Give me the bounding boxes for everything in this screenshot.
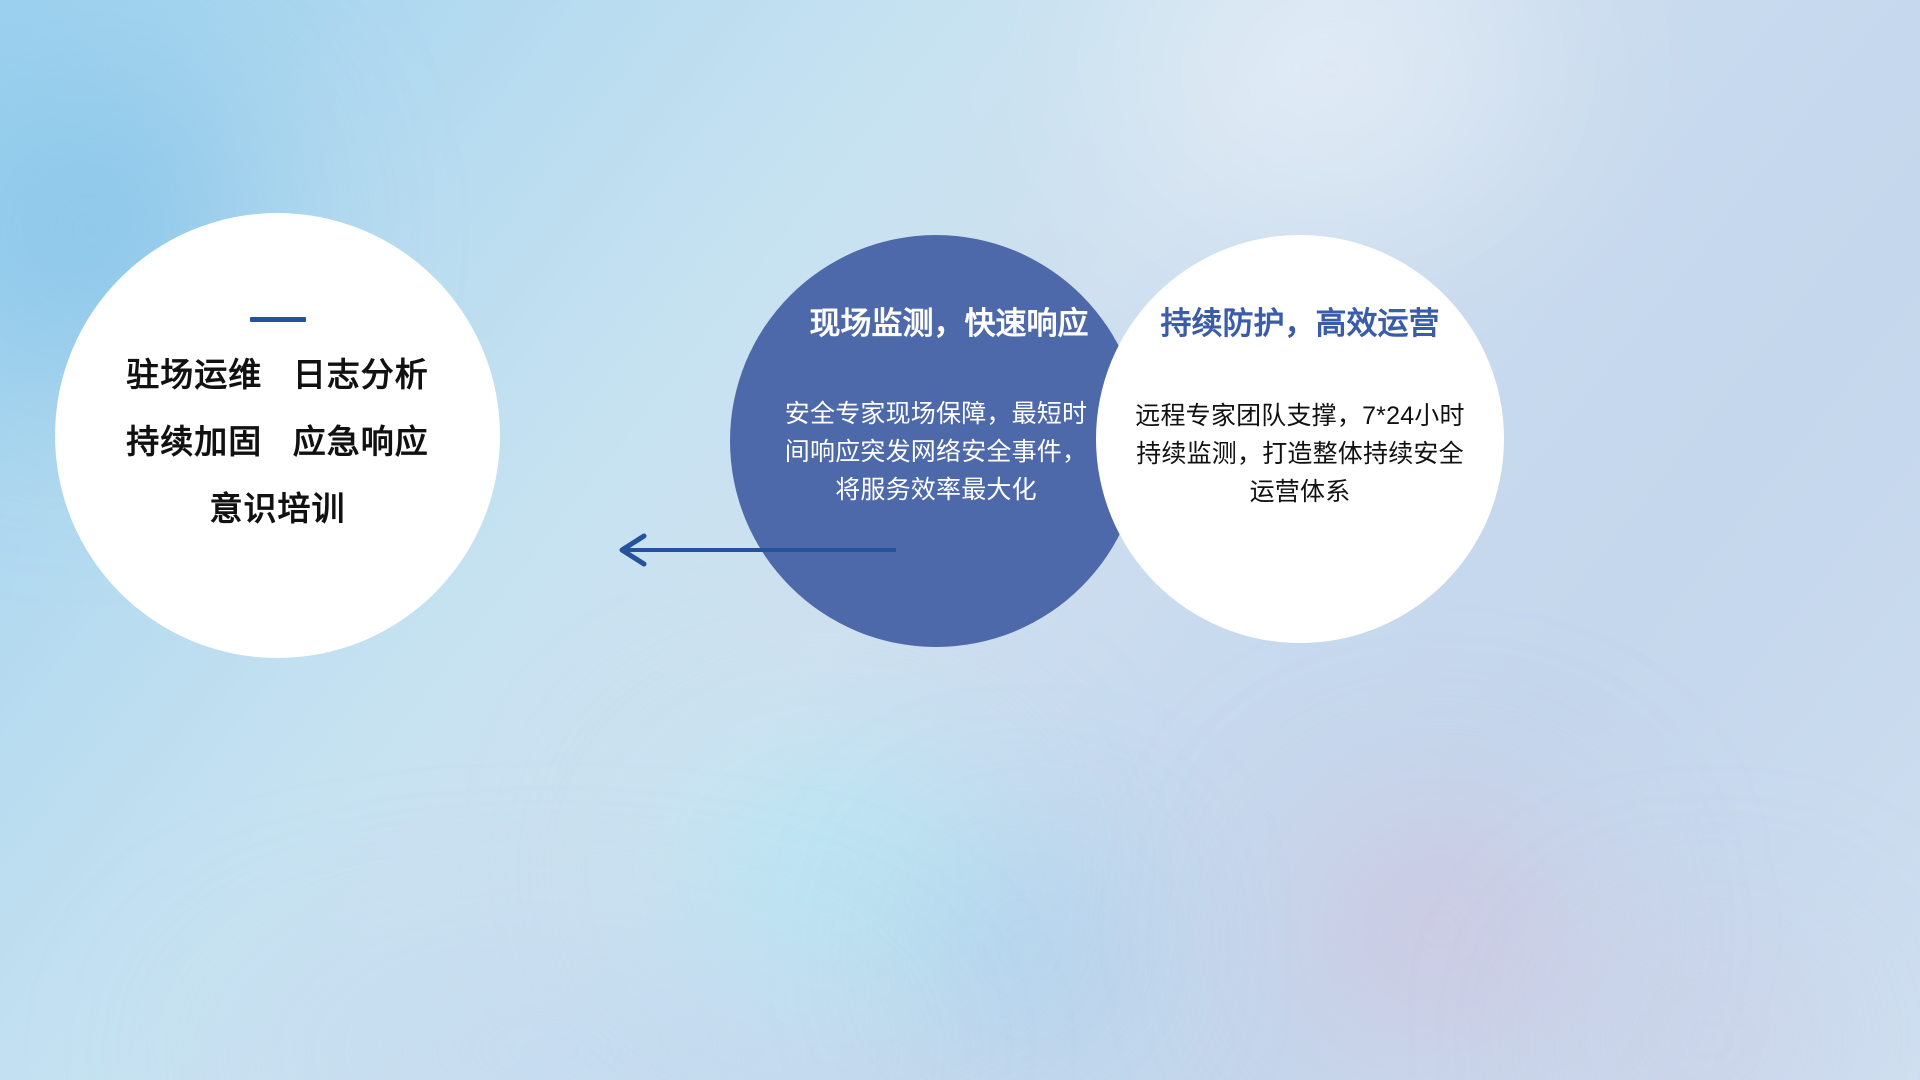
middle-circle-title: 现场监测，快速响应 — [770, 307, 1128, 341]
divider-line — [250, 317, 306, 322]
left-capability-circle: 驻场运维 日志分析 持续加固 应急响应 意识培训 — [55, 213, 500, 658]
right-circle-body: 远程专家团队支撑，7*24小时持续监测，打造整体持续安全运营体系 — [1125, 397, 1475, 511]
right-operations-circle: 持续防护，高效运营 远程专家团队支撑，7*24小时持续监测，打造整体持续安全运营… — [1096, 235, 1504, 643]
left-circle-line-1: 驻场运维 日志分析 — [55, 358, 500, 391]
flow-arrow-left-icon — [600, 520, 900, 580]
right-circle-content: 持续防护，高效运营 远程专家团队支撑，7*24小时持续监测，打造整体持续安全运营… — [1096, 307, 1504, 511]
left-circle-line-2: 持续加固 应急响应 — [55, 425, 500, 458]
slide-canvas: 驻场运维 日志分析 持续加固 应急响应 意识培训 现场监测，快速响应 安全专家现… — [0, 0, 1920, 1080]
middle-circle-content: 现场监测，快速响应 安全专家现场保障，最短时间响应突发网络安全事件，将服务效率最… — [730, 307, 1142, 509]
middle-circle-body: 安全专家现场保障，最短时间响应突发网络安全事件，将服务效率最大化 — [781, 395, 1091, 509]
right-circle-title: 持续防护，高效运营 — [1108, 307, 1492, 341]
left-circle-line-3: 意识培训 — [55, 492, 500, 525]
left-circle-content: 驻场运维 日志分析 持续加固 应急响应 意识培训 — [55, 317, 500, 525]
middle-onsite-circle: 现场监测，快速响应 安全专家现场保障，最短时间响应突发网络安全事件，将服务效率最… — [730, 235, 1142, 647]
